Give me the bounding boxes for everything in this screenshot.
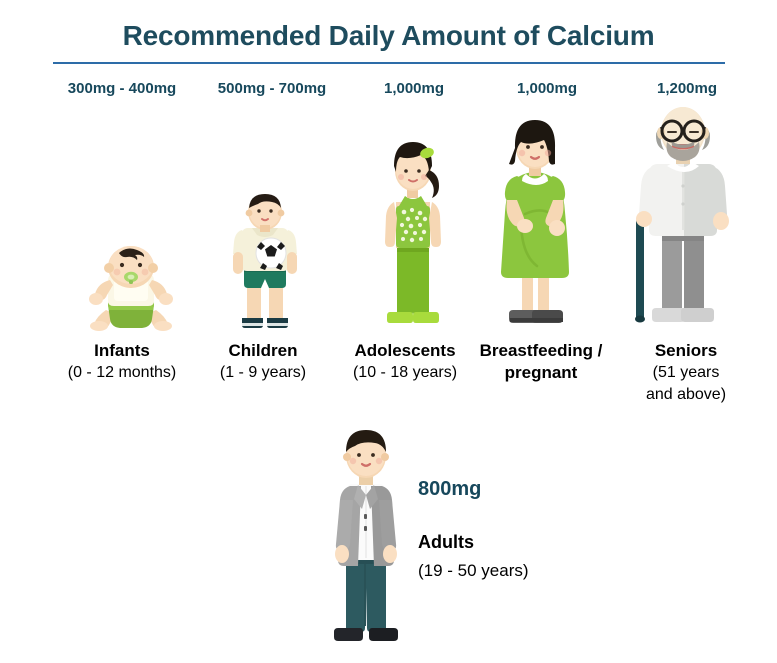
caption-age-seniors-line2: and above) — [646, 384, 726, 405]
pregnant-figure-icon — [489, 118, 581, 332]
caption-infants: Infants (0 - 12 months) — [68, 340, 176, 384]
caption-age-children: (1 - 9 years) — [220, 362, 306, 383]
caption-seniors: Seniors (51 years and above) — [646, 340, 726, 405]
dose-label-breastfeeding: 1,000mg — [517, 80, 577, 97]
caption-age-infants: (0 - 12 months) — [68, 362, 176, 383]
dose-label-adolescents: 1,000mg — [384, 80, 444, 97]
adult-figure-icon — [318, 428, 414, 654]
caption-children: Children (1 - 9 years) — [220, 340, 306, 384]
dose-label-infants: 300mg - 400mg — [68, 80, 176, 97]
caption-name-children: Children — [220, 340, 306, 362]
caption-name-breastfeeding: Breastfeeding / — [480, 340, 603, 362]
caption-name-breastfeeding-line2: pregnant — [480, 362, 603, 384]
infographic-canvas: Recommended Daily Amount of Calcium 300m… — [0, 0, 777, 663]
dose-label-adults: 800mg — [418, 478, 481, 501]
title-underline-divider — [53, 62, 725, 64]
caption-age-adolescents: (10 - 18 years) — [353, 362, 457, 383]
dose-label-seniors: 1,200mg — [657, 80, 717, 97]
caption-name-infants: Infants — [68, 340, 176, 362]
caption-adolescents: Adolescents (10 - 18 years) — [353, 340, 457, 384]
senior-figure-icon — [622, 100, 730, 332]
infant-figure-icon — [88, 248, 174, 332]
figure-row — [0, 100, 777, 335]
caption-age-adults: (19 - 50 years) — [418, 561, 529, 581]
caption-name-seniors: Seniors — [646, 340, 726, 362]
dose-label-children: 500mg - 700mg — [218, 80, 326, 97]
child-figure-icon — [228, 192, 302, 332]
caption-name-adolescents: Adolescents — [353, 340, 457, 362]
page-title: Recommended Daily Amount of Calcium — [0, 20, 777, 52]
adolescent-figure-icon — [374, 140, 452, 332]
caption-breastfeeding: Breastfeeding / pregnant — [480, 340, 603, 385]
caption-age-seniors-line1: (51 years — [646, 362, 726, 383]
caption-name-adults: Adults — [418, 532, 474, 553]
